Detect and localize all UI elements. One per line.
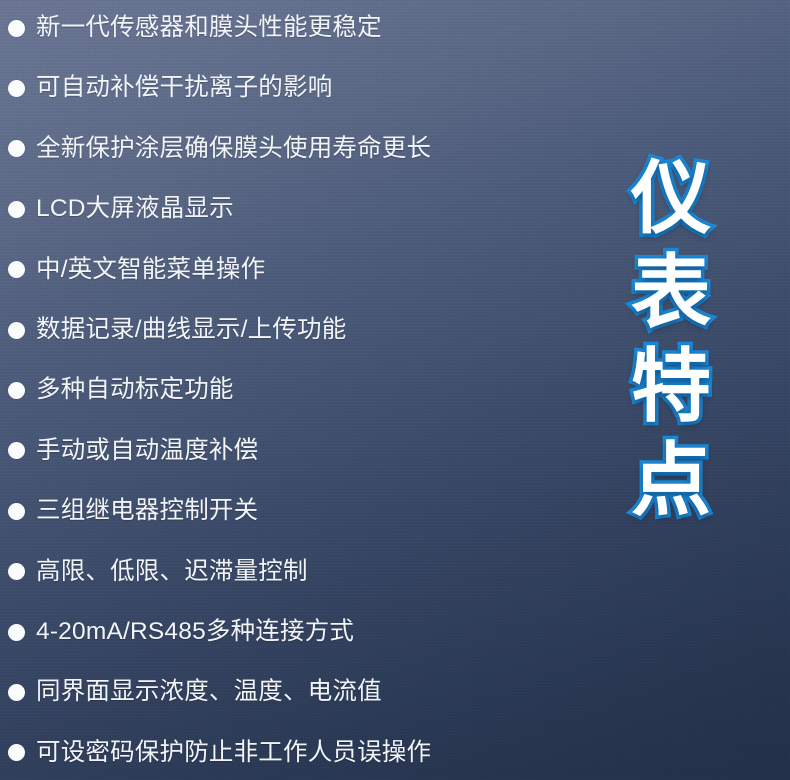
feature-item: 高限、低限、迟滞量控制 [8, 555, 308, 589]
feature-slide: 新一代传感器和膜头性能更稳定可自动补偿干扰离子的影响全新保护涂层确保膜头使用寿命… [0, 0, 790, 780]
feature-item-label: 4-20mA/RS485多种连接方式 [36, 617, 354, 647]
bullet-icon [8, 80, 25, 97]
feature-item: LCD大屏液晶显示 [8, 192, 234, 226]
feature-item-label: 同界面显示浓度、温度、电流值 [36, 677, 382, 707]
bullet-icon [8, 442, 25, 459]
bullet-icon [8, 684, 25, 701]
bullet-icon [8, 201, 25, 218]
headline-char: 表 [631, 246, 711, 340]
feature-item: 新一代传感器和膜头性能更稳定 [8, 11, 382, 45]
feature-item-label: 手动或自动温度补偿 [36, 436, 258, 466]
bullet-icon [8, 382, 25, 399]
feature-item-label: LCD大屏液晶显示 [36, 194, 234, 224]
headline-char: 特 [631, 340, 711, 434]
feature-item-label: 多种自动标定功能 [36, 375, 234, 405]
feature-item: 多种自动标定功能 [8, 373, 234, 407]
bullet-icon [8, 563, 25, 580]
bullet-icon [8, 503, 25, 520]
bullet-icon [8, 624, 25, 641]
feature-item: 中/英文智能菜单操作 [8, 253, 265, 287]
feature-item-label: 可设密码保护防止非工作人员误操作 [36, 738, 431, 768]
feature-item: 手动或自动温度补偿 [8, 434, 258, 468]
headline-char: 仪 [631, 152, 711, 246]
vertical-headline: 仪表特点 [628, 152, 714, 528]
feature-item: 4-20mA/RS485多种连接方式 [8, 615, 354, 649]
bullet-icon [8, 744, 25, 761]
feature-item-label: 高限、低限、迟滞量控制 [36, 557, 308, 587]
bullet-icon [8, 20, 25, 37]
feature-item-label: 三组继电器控制开关 [36, 496, 258, 526]
feature-item: 数据记录/曲线显示/上传功能 [8, 313, 346, 347]
feature-item-label: 新一代传感器和膜头性能更稳定 [36, 13, 382, 43]
feature-item-label: 中/英文智能菜单操作 [36, 255, 265, 285]
headline-char: 点 [631, 434, 711, 528]
bullet-icon [8, 261, 25, 278]
bullet-icon [8, 322, 25, 339]
bullet-icon [8, 140, 25, 157]
feature-item: 三组继电器控制开关 [8, 494, 258, 528]
feature-item-label: 数据记录/曲线显示/上传功能 [36, 315, 346, 345]
feature-item: 可设密码保护防止非工作人员误操作 [8, 736, 431, 770]
feature-item-label: 可自动补偿干扰离子的影响 [36, 73, 332, 103]
feature-item: 全新保护涂层确保膜头使用寿命更长 [8, 132, 431, 166]
feature-item-label: 全新保护涂层确保膜头使用寿命更长 [36, 134, 431, 164]
feature-item: 可自动补偿干扰离子的影响 [8, 71, 332, 105]
feature-item: 同界面显示浓度、温度、电流值 [8, 675, 382, 709]
